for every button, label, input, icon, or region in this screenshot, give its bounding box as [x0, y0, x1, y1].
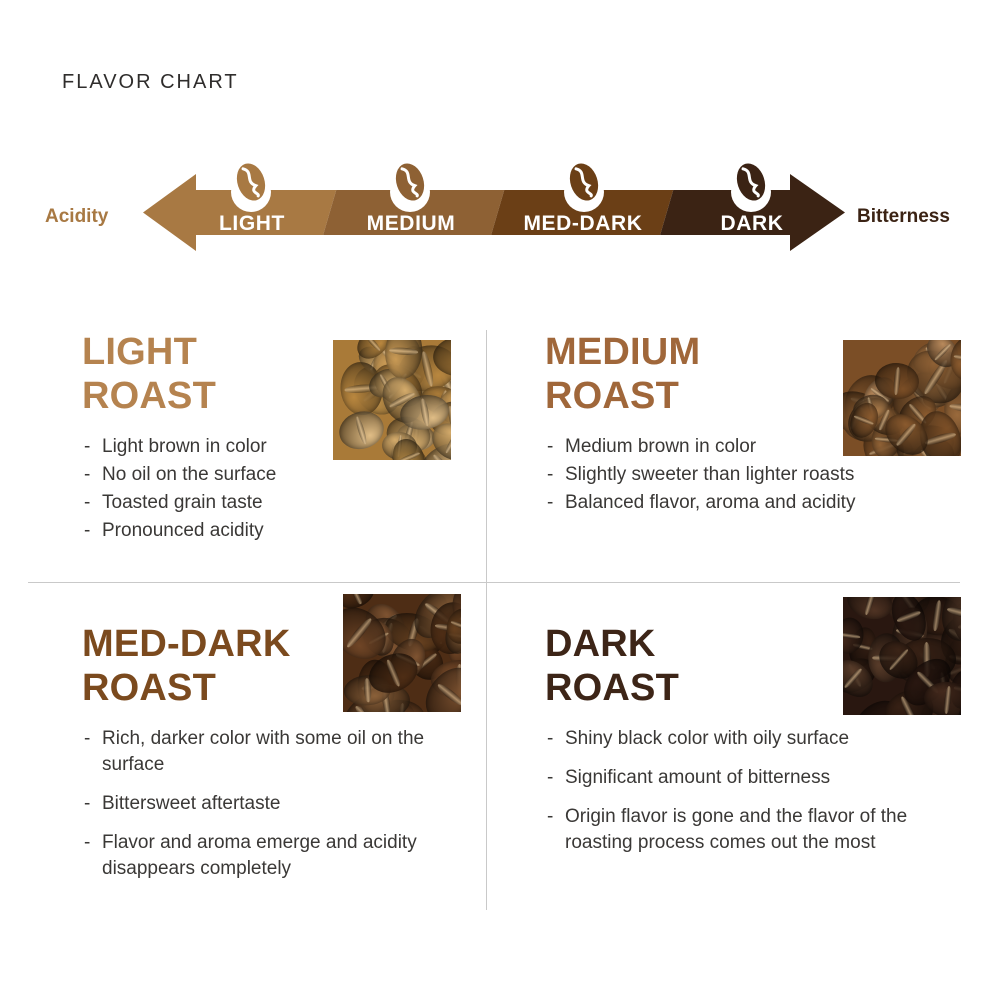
page-title: FLAVOR CHART [62, 71, 239, 94]
list-item: No oil on the surface [82, 462, 472, 488]
roast-bullet-list: Shiny black color with oily surface Sign… [545, 726, 965, 856]
list-item: Flavor and aroma emerge and acidity disa… [82, 830, 472, 882]
grid-divider-horizontal [28, 582, 960, 583]
scale-label-medium: MEDIUM [355, 212, 467, 236]
dark-roast-beans-photo [843, 597, 961, 715]
med-dark-roast-beans-photo [343, 594, 461, 712]
scale-label-dark: DARK [700, 212, 804, 236]
list-item: Origin flavor is gone and the flavor of … [545, 804, 965, 856]
list-item: Slightly sweeter than lighter roasts [545, 462, 965, 488]
flavor-chart-page: FLAVOR CHART [0, 0, 1001, 1001]
axis-label-acidity: Acidity [45, 206, 108, 228]
roast-bullet-list: Rich, darker color with some oil on the … [82, 726, 472, 882]
grid-divider-vertical [486, 330, 487, 910]
list-item: Toasted grain taste [82, 490, 472, 516]
scale-label-light: LIGHT [206, 212, 298, 236]
light-roast-beans-photo [333, 340, 451, 460]
list-item: Balanced flavor, aroma and acidity [545, 490, 965, 516]
medium-roast-beans-photo [843, 340, 961, 456]
list-item: Rich, darker color with some oil on the … [82, 726, 472, 778]
axis-label-bitterness: Bitterness [857, 206, 950, 228]
scale-label-med-dark: MED-DARK [503, 212, 663, 236]
list-item: Shiny black color with oily surface [545, 726, 965, 752]
list-item: Pronounced acidity [82, 518, 472, 544]
roast-scale: LIGHT MEDIUM MED-DARK DARK [0, 160, 1001, 280]
list-item: Significant amount of bitterness [545, 765, 965, 791]
list-item: Bittersweet aftertaste [82, 791, 472, 817]
